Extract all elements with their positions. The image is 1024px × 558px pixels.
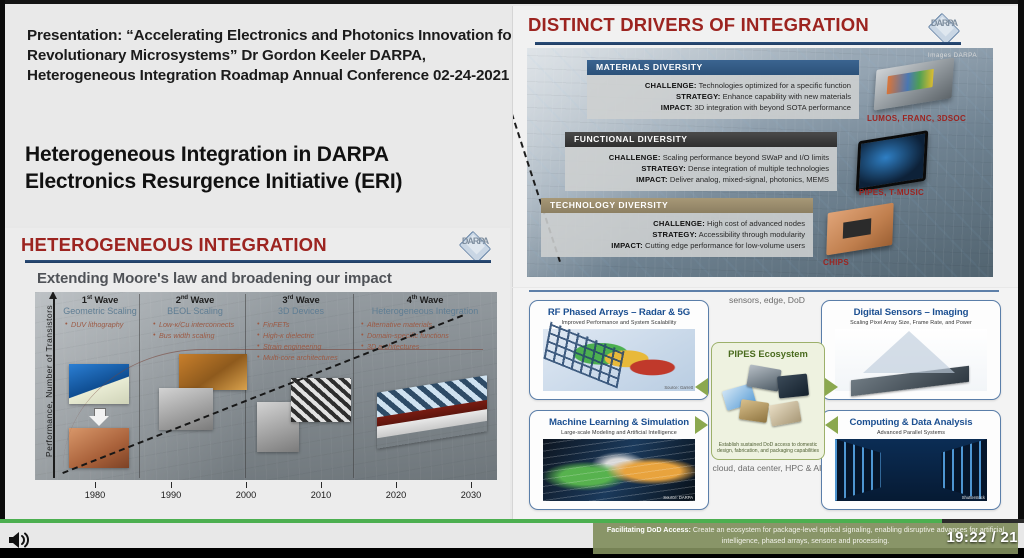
- driver-row: CHALLENGE: Technologies optimized for a …: [593, 80, 851, 91]
- page-title-line1: Heterogeneous Integration in DARPA: [25, 142, 495, 169]
- driver-row: IMPACT: Deliver analog, mixed-signal, ph…: [571, 174, 829, 185]
- card-title: Machine Learning & Simulation: [530, 417, 708, 428]
- driver-heading-materials: MATERIALS DIVERSITY: [587, 60, 859, 75]
- driver-block-materials: MATERIALS DIVERSITY CHALLENGE: Technolog…: [587, 60, 859, 119]
- wave-subtitle-4: Heterogeneous Integration: [357, 306, 493, 316]
- rf-beam-pattern-illustration: Source: Garrett: [543, 329, 695, 391]
- driver-row-value: Dense integration of multiple technologi…: [688, 164, 829, 173]
- moores-law-chart: Performance, Number of Transistors 1st W…: [35, 292, 497, 480]
- wave-heading-4: 4th Wave: [357, 294, 493, 305]
- image-credit: Source: Garrett: [664, 385, 693, 390]
- wave-bullet: FinFETs: [257, 320, 349, 331]
- driver-row-value: High cost of advanced nodes: [707, 219, 805, 228]
- wave-heading-2: 2nd Wave: [149, 294, 241, 305]
- frame-right-border: [1018, 0, 1024, 522]
- x-tick-label: 2010: [311, 490, 331, 500]
- video-player-controls: 19:22 / 21: [0, 523, 1024, 558]
- context-label-top: sensors, edge, DoD: [709, 294, 825, 306]
- x-axis-ticks: 1980 1990 2000 2010 2020 2030: [35, 482, 497, 510]
- page-title: Heterogeneous Integration in DARPA Elect…: [25, 142, 495, 196]
- driver-row-value: Accessibility through modularity: [699, 230, 805, 239]
- card-rf-phased-arrays[interactable]: RF Phased Arrays – Radar & 5G Improved P…: [529, 300, 709, 400]
- wave-column-1: 1st Wave Geometric Scaling DUV lithograp…: [61, 294, 139, 338]
- slide-heterogeneous-integration: HETEROGENEOUS INTEGRATION DARPA Extendin…: [5, 228, 510, 522]
- page-title-line2: Electronics Resurgence Initiative (ERI): [25, 169, 495, 196]
- driver-row-value: Technologies optimized for a specific fu…: [699, 81, 851, 90]
- program-label-materials: LUMOS, FRANC, 3DSOC: [867, 114, 966, 123]
- driver-row: CHALLENGE: High cost of advanced nodes: [547, 218, 805, 229]
- driver-row-label: IMPACT:: [636, 175, 668, 184]
- card-machine-learning[interactable]: Machine Learning & Simulation Large-scal…: [529, 410, 709, 510]
- x-tick-label: 1980: [85, 490, 105, 500]
- wave-bullets-2: Low-κ/Cu interconnects Bus width scaling: [149, 320, 241, 342]
- image-credit: Source: DARPA: [663, 495, 693, 500]
- driver-row: STRATEGY: Enhance capability with new ma…: [593, 91, 851, 102]
- slide-pipes-ecosystem: RF Phased Arrays – Radar & 5G Improved P…: [512, 288, 1019, 522]
- wave-bullet: Low-κ/Cu interconnects: [153, 320, 241, 331]
- card-title: Computing & Data Analysis: [822, 417, 1000, 428]
- pipes-ecosystem-caption: Establish sustained DoD access to domest…: [716, 442, 820, 456]
- card-title: Digital Sensors – Imaging: [822, 307, 1000, 318]
- program-label-functional: PIPES, T-MUSIC: [859, 188, 924, 197]
- driver-row: STRATEGY: Accessibility through modulari…: [547, 229, 805, 240]
- wave-bullet: Bus width scaling: [153, 331, 241, 342]
- wave-heading-1: 1st Wave: [61, 294, 139, 305]
- drivers-title-rule: [535, 42, 961, 45]
- y-axis-label: Performance, Number of Transistors: [44, 301, 54, 461]
- driver-body-materials: CHALLENGE: Technologies optimized for a …: [587, 75, 859, 119]
- drivers-canvas: Images DARPA MATERIALS DIVERSITY CHALLEN…: [527, 48, 993, 277]
- hetero-subtitle: Extending Moore's law and broadening our…: [37, 270, 477, 287]
- hetero-slide-title: HETEROGENEOUS INTEGRATION: [21, 234, 327, 256]
- card-digital-sensors[interactable]: Digital Sensors – Imaging Scaling Pixel …: [821, 300, 1001, 400]
- wave-subtitle-3: 3D Devices: [253, 306, 349, 316]
- wave-bullet: Domain-specific functions: [361, 331, 493, 342]
- driver-row-label: STRATEGY:: [641, 164, 686, 173]
- driver-block-technology: TECHNOLOGY DIVERSITY CHALLENGE: High cos…: [541, 198, 813, 257]
- slide-distinct-drivers: DISTINCT DRIVERS OF INTEGRATION DARPA Im…: [512, 6, 1019, 287]
- program-label-technology: CHIPS: [823, 258, 849, 267]
- darpa-diamond-logo: DARPA: [925, 12, 963, 46]
- wave-subtitle-1: Geometric Scaling: [61, 306, 139, 316]
- presentation-title-pane: Presentation: “Accelerating Electronics …: [5, 4, 510, 226]
- driver-body-technology: CHALLENGE: High cost of advanced nodes S…: [541, 213, 813, 257]
- card-subtitle: Advanced Parallel Systems: [822, 430, 1000, 436]
- driver-row: IMPACT: Cutting edge performance for low…: [547, 240, 805, 251]
- driver-row: STRATEGY: Dense integration of multiple …: [571, 163, 829, 174]
- driver-row-label: STRATEGY:: [652, 230, 697, 239]
- image-credit: Shutterstock: [962, 495, 985, 500]
- context-label-bottom: cloud, data center, HPC & AI: [709, 462, 825, 474]
- wave-bullet: High-κ dielectric: [257, 331, 349, 342]
- driver-heading-functional: FUNCTIONAL DIVERSITY: [565, 132, 837, 147]
- arrow-left-icon: [695, 378, 708, 396]
- driver-block-functional: FUNCTIONAL DIVERSITY CHALLENGE: Scaling …: [565, 132, 837, 191]
- wave-subtitle-2: BEOL Scaling: [149, 306, 241, 316]
- driver-body-functional: CHALLENGE: Scaling performance beyond SW…: [565, 147, 837, 191]
- wave-heading-3: 3rd Wave: [253, 294, 349, 305]
- hetero-title-rule: [25, 260, 491, 263]
- chiplet-cluster-illustration: [724, 367, 812, 425]
- driver-row-label: CHALLENGE:: [653, 219, 705, 228]
- x-tick-label: 2000: [236, 490, 256, 500]
- frame-top-border: [0, 0, 1024, 4]
- presentation-meta-text: Presentation: “Accelerating Electronics …: [27, 26, 525, 86]
- pipes-top-rule: [529, 290, 999, 292]
- card-subtitle: Scaling Pixel Array Size, Frame Rate, an…: [822, 320, 1000, 326]
- driver-row-value: Scaling performance beyond SWaP and I/O …: [663, 153, 829, 162]
- arrow-right-icon: [695, 416, 708, 434]
- pipes-ecosystem-label: PIPES Ecosystem: [712, 348, 824, 359]
- time-display: 19:22 / 21: [946, 529, 1018, 546]
- x-tick-label: 2030: [461, 490, 481, 500]
- drivers-slide-title: DISTINCT DRIVERS OF INTEGRATION: [528, 14, 869, 36]
- card-title: RF Phased Arrays – Radar & 5G: [530, 307, 708, 318]
- driver-row-label: CHALLENGE:: [609, 153, 661, 162]
- driver-row: CHALLENGE: Scaling performance beyond SW…: [571, 152, 829, 163]
- wave-bullet: DUV lithography: [65, 320, 139, 331]
- driver-row-label: CHALLENGE:: [645, 81, 697, 90]
- x-tick-label: 2020: [386, 490, 406, 500]
- pipes-ecosystem-box[interactable]: PIPES Ecosystem Establish sustained DoD …: [711, 342, 825, 460]
- driver-row: IMPACT: 3D integration with beyond SOTA …: [593, 102, 851, 113]
- driver-row-value: Cutting edge performance for low-volume …: [645, 241, 805, 250]
- card-subtitle: Large-scale Modeling and Artificial Inte…: [530, 430, 708, 436]
- driver-row-value: Enhance capability with new materials: [723, 92, 851, 101]
- driver-row-value: Deliver analog, mixed-signal, photonics,…: [670, 175, 829, 184]
- wave-column-2: 2nd Wave BEOL Scaling Low-κ/Cu interconn…: [149, 294, 241, 349]
- x-tick-label: 1990: [161, 490, 181, 500]
- driver-heading-technology: TECHNOLOGY DIVERSITY: [541, 198, 813, 213]
- wave-bullets-1: DUV lithography: [61, 320, 139, 331]
- card-computing-data-analysis[interactable]: Computing & Data Analysis Advanced Paral…: [821, 410, 1001, 510]
- driver-row-label: IMPACT:: [611, 241, 643, 250]
- darpa-diamond-logo: DARPA: [456, 230, 494, 264]
- data-center-illustration: Shutterstock: [835, 439, 987, 501]
- driver-row-label: STRATEGY:: [676, 92, 721, 101]
- frame-left-border: [0, 0, 5, 522]
- imaging-sensor-illustration: [835, 329, 987, 391]
- speaker-icon[interactable]: [6, 529, 32, 551]
- driver-row-value: 3D integration with beyond SOTA performa…: [695, 103, 851, 112]
- driver-row-label: IMPACT:: [661, 103, 693, 112]
- ml-waveform-illustration: Source: DARPA: [543, 439, 695, 501]
- arrow-left-icon: [825, 416, 838, 434]
- video-frame: Presentation: “Accelerating Electronics …: [0, 0, 1024, 558]
- arrow-right-icon: [825, 378, 838, 396]
